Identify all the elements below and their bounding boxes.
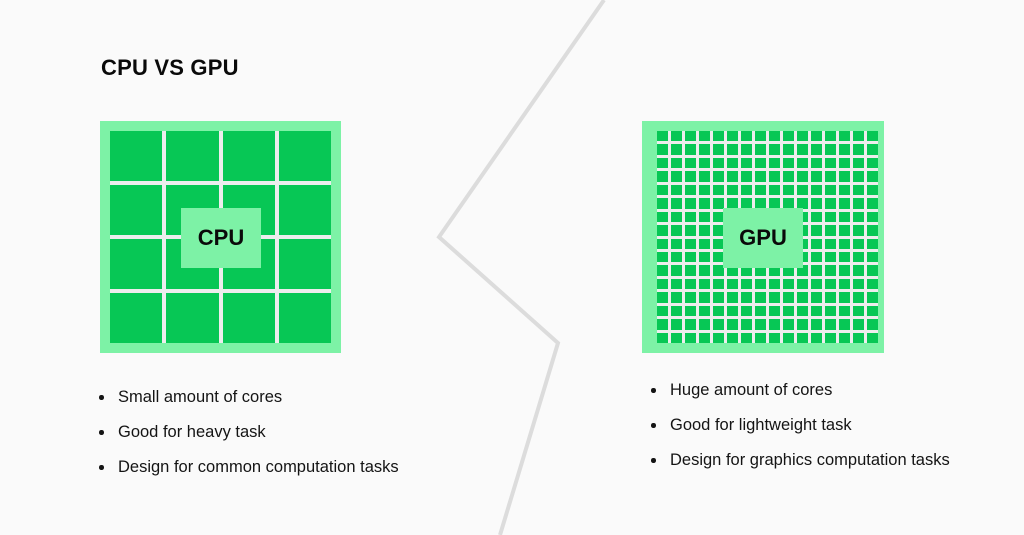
gpu-core-cell xyxy=(811,279,822,289)
gpu-core-cell xyxy=(671,131,682,141)
bullet-dot-icon xyxy=(651,458,656,463)
gpu-core-cell xyxy=(839,252,850,262)
gpu-core-cell xyxy=(853,306,864,316)
gpu-core-cell xyxy=(699,306,710,316)
gpu-core-cell xyxy=(699,144,710,154)
gpu-core-cell xyxy=(741,131,752,141)
gpu-core-cell xyxy=(741,144,752,154)
gpu-core-cell xyxy=(727,158,738,168)
gpu-core-cell xyxy=(657,319,668,329)
gpu-core-cell xyxy=(825,292,836,302)
gpu-core-cell xyxy=(839,279,850,289)
gpu-core-cell xyxy=(657,185,668,195)
cpu-core-cell xyxy=(110,185,162,235)
gpu-core-cell xyxy=(713,333,724,343)
gpu-core-cell xyxy=(811,333,822,343)
gpu-core-cell xyxy=(769,319,780,329)
gpu-core-cell xyxy=(853,131,864,141)
gpu-core-cell xyxy=(741,306,752,316)
gpu-core-cell xyxy=(825,158,836,168)
slide-canvas: CPU VS GPU CPU GPU Small amount of cores… xyxy=(0,0,1024,535)
cpu-core-cell xyxy=(223,293,275,343)
gpu-core-cell xyxy=(657,265,668,275)
gpu-core-cell xyxy=(699,158,710,168)
gpu-core-cell xyxy=(755,171,766,181)
gpu-core-cell xyxy=(741,171,752,181)
gpu-core-cell xyxy=(713,158,724,168)
gpu-core-cell xyxy=(699,239,710,249)
gpu-core-cell xyxy=(755,279,766,289)
gpu-core-cell xyxy=(769,306,780,316)
gpu-core-cell xyxy=(811,319,822,329)
gpu-feature-item: Huge amount of cores xyxy=(648,373,988,408)
gpu-chip-label: GPU xyxy=(723,208,803,268)
gpu-core-cell xyxy=(839,198,850,208)
gpu-core-cell xyxy=(699,319,710,329)
gpu-core-cell xyxy=(699,171,710,181)
gpu-core-cell xyxy=(853,252,864,262)
gpu-core-cell xyxy=(671,319,682,329)
gpu-core-cell xyxy=(699,212,710,222)
gpu-core-cell xyxy=(727,171,738,181)
gpu-core-cell xyxy=(699,252,710,262)
gpu-core-cell xyxy=(685,319,696,329)
gpu-core-cell xyxy=(657,279,668,289)
gpu-core-cell xyxy=(671,144,682,154)
gpu-core-cell xyxy=(671,185,682,195)
gpu-core-cell xyxy=(811,185,822,195)
gpu-core-cell xyxy=(853,144,864,154)
gpu-core-cell xyxy=(853,212,864,222)
gpu-core-cell xyxy=(685,239,696,249)
gpu-core-cell xyxy=(811,265,822,275)
gpu-core-cell xyxy=(713,306,724,316)
gpu-core-cell xyxy=(867,198,878,208)
gpu-core-cell xyxy=(811,212,822,222)
gpu-core-cell xyxy=(685,185,696,195)
gpu-core-cell xyxy=(825,144,836,154)
gpu-core-cell xyxy=(755,131,766,141)
gpu-core-cell xyxy=(825,306,836,316)
gpu-core-cell xyxy=(839,144,850,154)
gpu-core-cell xyxy=(783,171,794,181)
cpu-core-cell xyxy=(166,293,218,343)
gpu-core-cell xyxy=(685,265,696,275)
gpu-core-cell xyxy=(727,185,738,195)
gpu-core-cell xyxy=(797,306,808,316)
bullet-dot-icon xyxy=(99,465,104,470)
gpu-core-cell xyxy=(755,292,766,302)
cpu-core-cell xyxy=(166,131,218,181)
gpu-core-cell xyxy=(699,292,710,302)
gpu-core-cell xyxy=(741,158,752,168)
cpu-core-cell xyxy=(279,185,331,235)
gpu-core-cell xyxy=(713,185,724,195)
gpu-core-cell xyxy=(811,131,822,141)
gpu-core-cell xyxy=(657,131,668,141)
gpu-core-cell xyxy=(867,265,878,275)
gpu-core-cell xyxy=(825,279,836,289)
gpu-core-cell xyxy=(811,144,822,154)
gpu-core-cell xyxy=(867,225,878,235)
gpu-core-cell xyxy=(671,279,682,289)
gpu-core-cell xyxy=(867,319,878,329)
gpu-core-cell xyxy=(699,225,710,235)
gpu-core-cell xyxy=(755,185,766,195)
gpu-core-cell xyxy=(657,225,668,235)
gpu-core-cell xyxy=(657,158,668,168)
gpu-feature-item: Good for lightweight task xyxy=(648,408,988,443)
gpu-core-cell xyxy=(671,158,682,168)
gpu-core-cell xyxy=(853,158,864,168)
bullet-dot-icon xyxy=(651,423,656,428)
cpu-feature-list: Small amount of coresGood for heavy task… xyxy=(96,380,436,485)
gpu-core-cell xyxy=(783,333,794,343)
gpu-core-cell xyxy=(825,212,836,222)
gpu-core-cell xyxy=(755,306,766,316)
gpu-core-cell xyxy=(657,252,668,262)
gpu-core-cell xyxy=(657,212,668,222)
gpu-core-cell xyxy=(797,185,808,195)
gpu-core-cell xyxy=(685,333,696,343)
gpu-core-cell xyxy=(713,279,724,289)
gpu-core-cell xyxy=(657,292,668,302)
gpu-core-cell xyxy=(713,292,724,302)
gpu-core-cell xyxy=(867,212,878,222)
gpu-core-cell xyxy=(685,144,696,154)
gpu-core-cell xyxy=(811,306,822,316)
cpu-core-cell xyxy=(223,131,275,181)
gpu-core-cell xyxy=(867,171,878,181)
gpu-core-cell xyxy=(671,198,682,208)
gpu-core-cell xyxy=(825,225,836,235)
gpu-core-cell xyxy=(825,265,836,275)
gpu-core-cell xyxy=(699,198,710,208)
gpu-core-cell xyxy=(797,171,808,181)
gpu-core-cell xyxy=(671,171,682,181)
gpu-core-cell xyxy=(671,265,682,275)
gpu-core-cell xyxy=(657,171,668,181)
gpu-core-cell xyxy=(657,333,668,343)
cpu-core-cell xyxy=(279,131,331,181)
gpu-core-cell xyxy=(755,144,766,154)
gpu-core-cell xyxy=(867,333,878,343)
page-title: CPU VS GPU xyxy=(101,55,239,81)
gpu-core-cell xyxy=(755,319,766,329)
gpu-core-cell xyxy=(825,252,836,262)
gpu-core-cell xyxy=(825,171,836,181)
gpu-core-cell xyxy=(783,144,794,154)
gpu-core-cell xyxy=(713,131,724,141)
cpu-core-cell xyxy=(110,131,162,181)
gpu-core-cell xyxy=(755,158,766,168)
gpu-core-cell xyxy=(699,131,710,141)
cpu-core-cell xyxy=(279,239,331,289)
bullet-dot-icon xyxy=(99,395,104,400)
gpu-core-cell xyxy=(839,185,850,195)
gpu-feature-list: Huge amount of coresGood for lightweight… xyxy=(648,373,988,478)
gpu-core-cell xyxy=(839,225,850,235)
gpu-core-cell xyxy=(685,171,696,181)
cpu-chip-label: CPU xyxy=(181,208,261,268)
gpu-core-cell xyxy=(685,292,696,302)
gpu-core-cell xyxy=(783,292,794,302)
gpu-feature-text: Good for lightweight task xyxy=(670,416,852,434)
gpu-core-cell xyxy=(797,158,808,168)
gpu-core-cell xyxy=(839,131,850,141)
cpu-feature-text: Design for common computation tasks xyxy=(118,458,399,476)
gpu-core-cell xyxy=(685,198,696,208)
gpu-core-cell xyxy=(867,279,878,289)
gpu-core-cell xyxy=(741,279,752,289)
gpu-core-cell xyxy=(811,239,822,249)
gpu-core-cell xyxy=(797,144,808,154)
gpu-core-cell xyxy=(853,319,864,329)
gpu-core-cell xyxy=(685,212,696,222)
gpu-core-cell xyxy=(825,239,836,249)
gpu-core-cell xyxy=(685,158,696,168)
gpu-core-cell xyxy=(811,158,822,168)
gpu-core-cell xyxy=(853,239,864,249)
gpu-core-cell xyxy=(671,333,682,343)
gpu-core-cell xyxy=(657,198,668,208)
gpu-core-cell xyxy=(727,131,738,141)
gpu-core-cell xyxy=(811,225,822,235)
gpu-core-cell xyxy=(713,144,724,154)
gpu-core-cell xyxy=(671,225,682,235)
gpu-core-cell xyxy=(671,252,682,262)
gpu-core-cell xyxy=(657,144,668,154)
gpu-core-cell xyxy=(811,292,822,302)
gpu-core-cell xyxy=(727,333,738,343)
gpu-core-cell xyxy=(867,292,878,302)
gpu-core-cell xyxy=(671,212,682,222)
gpu-core-cell xyxy=(825,333,836,343)
gpu-core-cell xyxy=(769,292,780,302)
cpu-core-cell xyxy=(110,293,162,343)
gpu-core-cell xyxy=(867,306,878,316)
gpu-core-cell xyxy=(769,185,780,195)
cpu-feature-item: Good for heavy task xyxy=(96,415,436,450)
gpu-core-cell xyxy=(755,333,766,343)
gpu-core-cell xyxy=(699,265,710,275)
gpu-core-cell xyxy=(783,306,794,316)
gpu-core-cell xyxy=(839,292,850,302)
gpu-core-cell xyxy=(867,131,878,141)
cpu-core-cell xyxy=(279,293,331,343)
gpu-core-cell xyxy=(769,333,780,343)
gpu-core-cell xyxy=(867,185,878,195)
gpu-core-cell xyxy=(853,265,864,275)
gpu-core-cell xyxy=(839,306,850,316)
gpu-core-cell xyxy=(713,319,724,329)
gpu-core-cell xyxy=(685,306,696,316)
gpu-core-cell xyxy=(839,212,850,222)
gpu-core-cell xyxy=(839,158,850,168)
zigzag-divider-line xyxy=(439,0,604,535)
gpu-core-cell xyxy=(713,171,724,181)
gpu-core-cell xyxy=(839,239,850,249)
gpu-core-cell xyxy=(657,306,668,316)
gpu-core-cell xyxy=(727,144,738,154)
gpu-feature-text: Huge amount of cores xyxy=(670,381,832,399)
gpu-core-cell xyxy=(783,319,794,329)
gpu-core-cell xyxy=(825,198,836,208)
gpu-core-cell xyxy=(839,319,850,329)
gpu-core-cell xyxy=(853,198,864,208)
gpu-core-cell xyxy=(811,198,822,208)
gpu-core-cell xyxy=(741,319,752,329)
gpu-core-cell xyxy=(811,171,822,181)
gpu-core-cell xyxy=(797,131,808,141)
gpu-core-cell xyxy=(839,265,850,275)
gpu-core-cell xyxy=(839,333,850,343)
gpu-core-cell xyxy=(727,279,738,289)
gpu-core-cell xyxy=(769,131,780,141)
gpu-core-cell xyxy=(685,225,696,235)
gpu-core-cell xyxy=(825,131,836,141)
gpu-core-cell xyxy=(699,185,710,195)
gpu-core-cell xyxy=(867,144,878,154)
gpu-core-cell xyxy=(671,239,682,249)
gpu-core-cell xyxy=(727,319,738,329)
bullet-dot-icon xyxy=(99,430,104,435)
gpu-core-cell xyxy=(727,306,738,316)
gpu-core-cell xyxy=(783,185,794,195)
gpu-core-cell xyxy=(769,158,780,168)
gpu-core-cell xyxy=(769,171,780,181)
gpu-core-cell xyxy=(825,319,836,329)
gpu-core-cell xyxy=(853,171,864,181)
gpu-core-cell xyxy=(783,279,794,289)
gpu-core-cell xyxy=(853,225,864,235)
gpu-core-cell xyxy=(839,171,850,181)
gpu-core-cell xyxy=(741,185,752,195)
gpu-core-cell xyxy=(657,239,668,249)
gpu-core-cell xyxy=(867,239,878,249)
gpu-core-cell xyxy=(685,131,696,141)
gpu-core-cell xyxy=(853,333,864,343)
gpu-core-cell xyxy=(769,144,780,154)
gpu-core-cell xyxy=(853,279,864,289)
gpu-core-cell xyxy=(727,292,738,302)
gpu-core-cell xyxy=(685,279,696,289)
gpu-core-cell xyxy=(699,333,710,343)
gpu-feature-text: Design for graphics computation tasks xyxy=(670,451,950,469)
cpu-feature-item: Small amount of cores xyxy=(96,380,436,415)
gpu-feature-item: Design for graphics computation tasks xyxy=(648,443,988,478)
cpu-feature-item: Design for common computation tasks xyxy=(96,450,436,485)
gpu-core-cell xyxy=(671,292,682,302)
gpu-core-cell xyxy=(671,306,682,316)
cpu-feature-text: Small amount of cores xyxy=(118,388,282,406)
gpu-core-cell xyxy=(783,131,794,141)
gpu-core-cell xyxy=(797,292,808,302)
cpu-feature-text: Good for heavy task xyxy=(118,423,266,441)
gpu-core-cell xyxy=(741,333,752,343)
gpu-core-cell xyxy=(867,158,878,168)
gpu-core-cell xyxy=(867,252,878,262)
cpu-core-cell xyxy=(110,239,162,289)
gpu-core-cell xyxy=(685,252,696,262)
gpu-core-cell xyxy=(797,319,808,329)
gpu-core-cell xyxy=(797,333,808,343)
gpu-core-cell xyxy=(769,279,780,289)
gpu-core-cell xyxy=(783,158,794,168)
bullet-dot-icon xyxy=(651,388,656,393)
gpu-core-cell xyxy=(699,279,710,289)
gpu-core-cell xyxy=(741,292,752,302)
gpu-core-cell xyxy=(853,185,864,195)
gpu-core-cell xyxy=(853,292,864,302)
gpu-core-cell xyxy=(797,279,808,289)
gpu-core-cell xyxy=(811,252,822,262)
gpu-core-cell xyxy=(825,185,836,195)
